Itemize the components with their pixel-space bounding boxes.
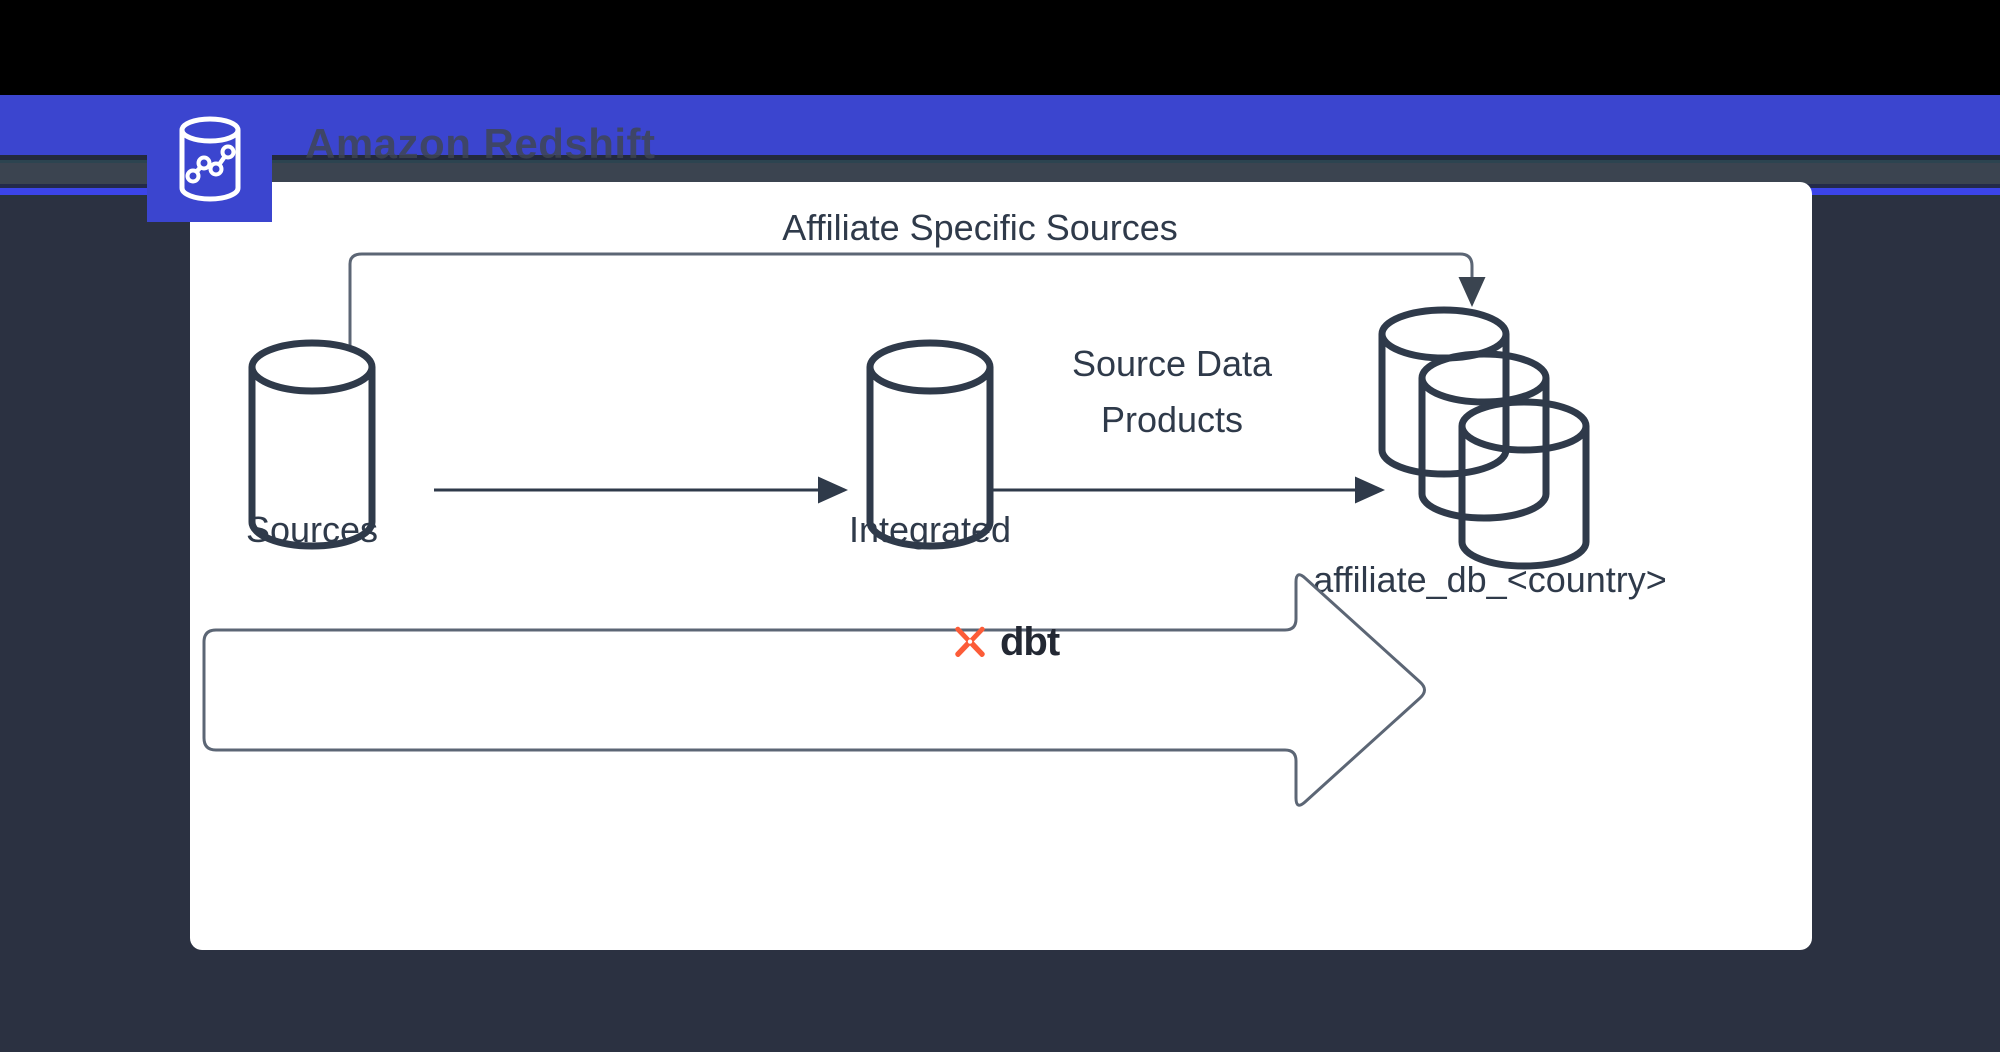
diagram-card: Affiliate Specific Sources Source Data P… xyxy=(190,182,1812,950)
screenshot-canvas: Amazon Redshift Affiliate Specific Sourc… xyxy=(0,0,2000,1052)
dbt-logo: dbt xyxy=(950,622,1059,662)
dbt-x-icon xyxy=(950,622,990,662)
header-blue-band xyxy=(0,95,2000,155)
edge-label-source-data: Source Data xyxy=(1072,343,1273,384)
diagram-svg: Affiliate Specific Sources Source Data P… xyxy=(190,182,1812,950)
node-label-affiliate-db: affiliate_db_<country> xyxy=(1313,559,1667,600)
header-title: Amazon Redshift xyxy=(305,120,656,168)
capture-artifact-stripe xyxy=(0,155,2000,160)
dbt-banner-arrow xyxy=(204,575,1425,805)
redshift-logo-tile xyxy=(147,95,272,222)
cylinder-front xyxy=(1462,402,1586,566)
dbt-wordmark: dbt xyxy=(1000,622,1059,662)
capture-artifact-stripe xyxy=(0,163,2000,184)
letterbox-top xyxy=(0,0,2000,95)
edge-label-affiliate-specific-sources: Affiliate Specific Sources xyxy=(782,207,1178,248)
edge-label-products: Products xyxy=(1101,399,1243,440)
capture-artifact-stripe xyxy=(0,160,2000,163)
node-affiliate-cylinder-stack xyxy=(1382,310,1586,566)
redshift-database-icon xyxy=(174,116,246,202)
node-label-integrated: Integrated xyxy=(849,509,1011,550)
node-label-sources: Sources xyxy=(246,509,378,550)
